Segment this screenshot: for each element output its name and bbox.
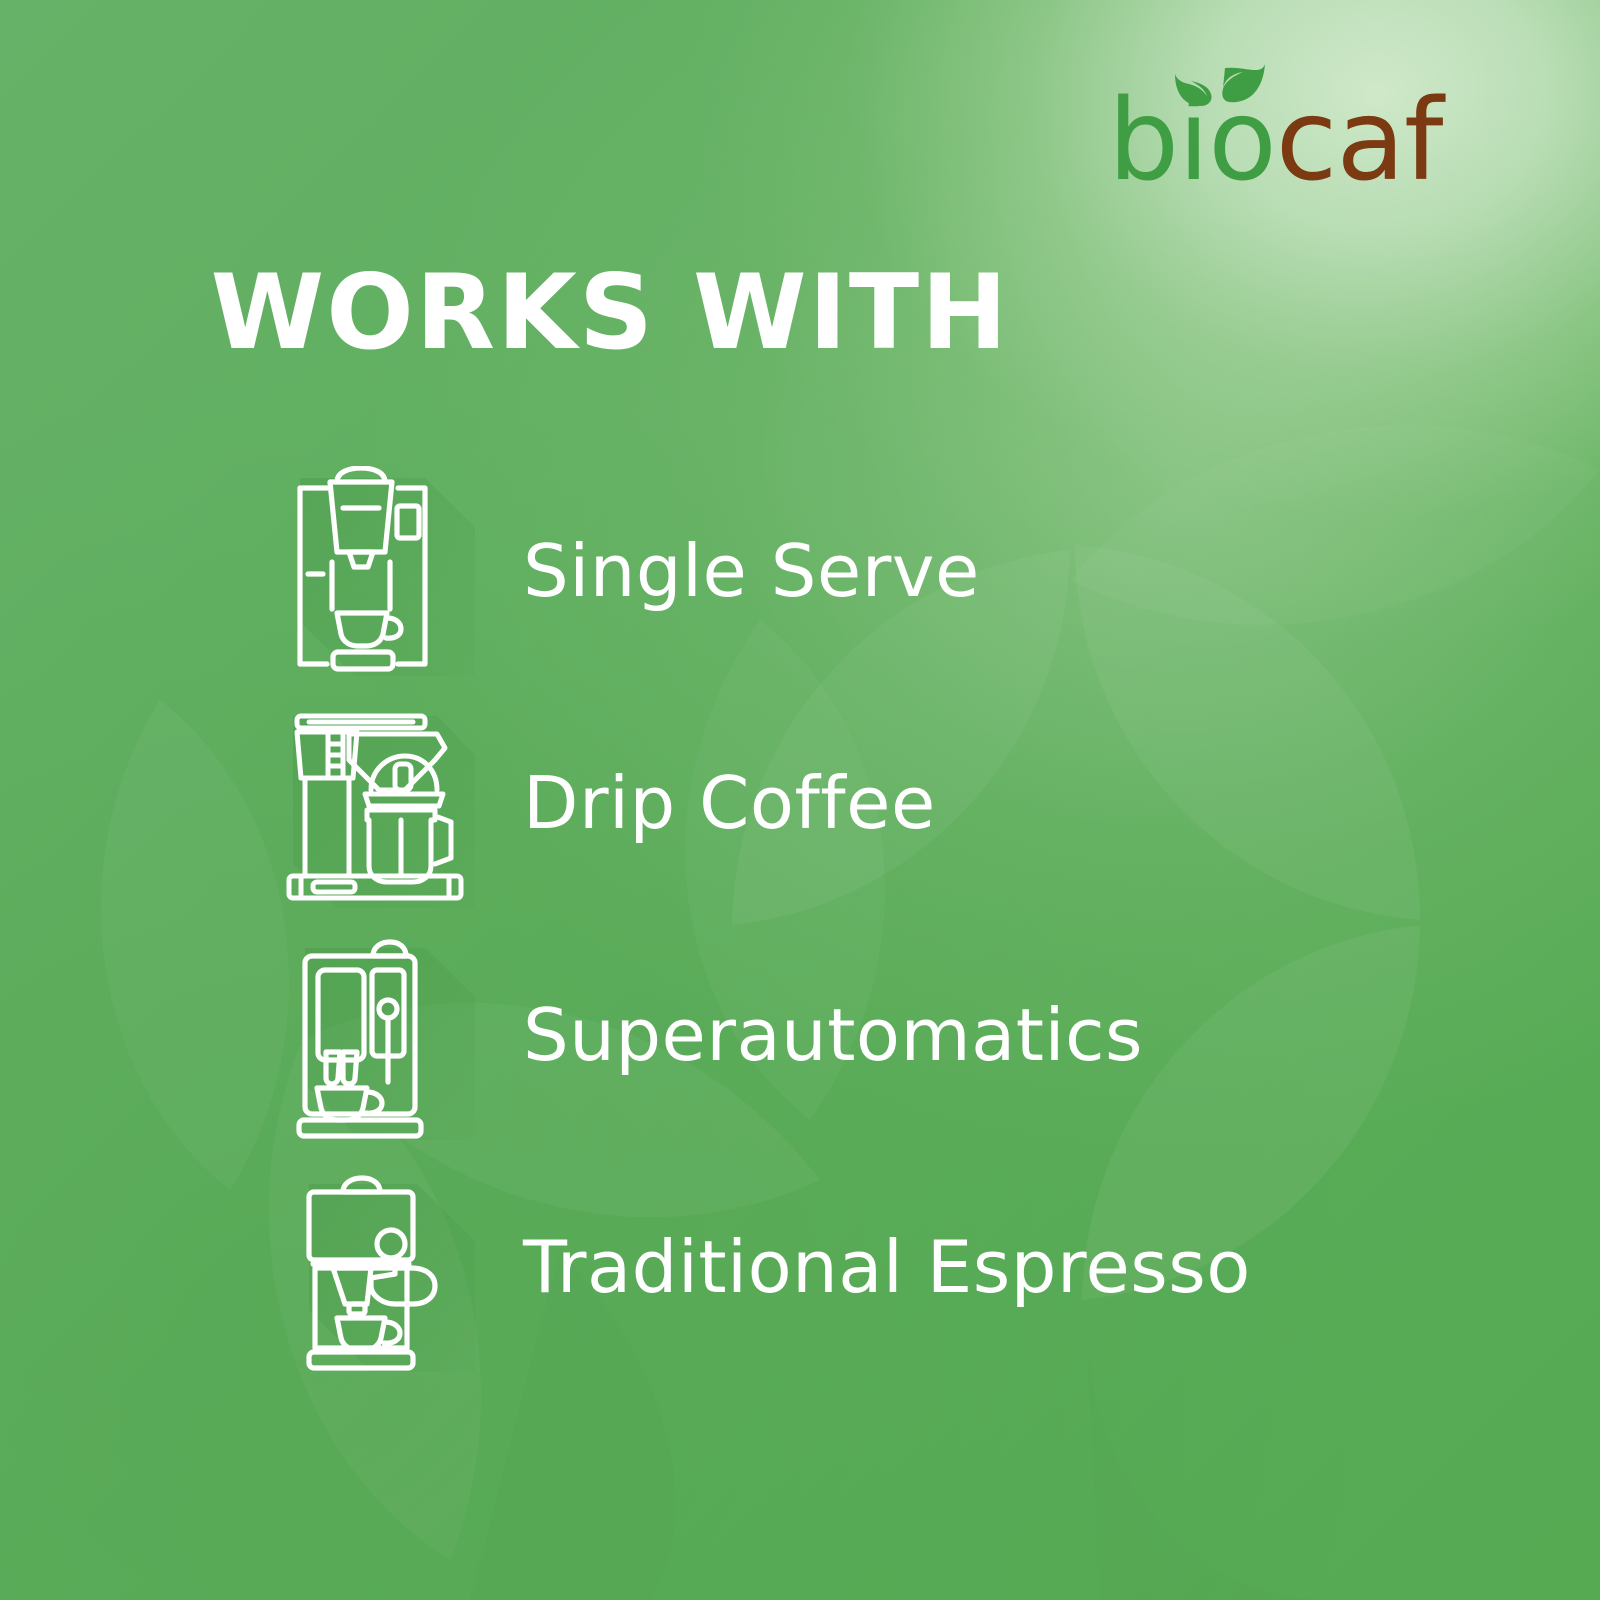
list-item: Traditional Espresso (0, 1151, 1600, 1383)
list-item-label: Drip Coffee (523, 767, 936, 839)
list-item: Drip Coffee (0, 687, 1600, 919)
icon-container (245, 687, 505, 919)
brand-logo: biocaf (1108, 62, 1468, 197)
leaf-sprout-icon (1175, 58, 1267, 130)
icon-container (245, 455, 505, 687)
page-title: WORKS WITH (0, 262, 1220, 365)
traditional-espresso-machine-icon (275, 1162, 475, 1372)
single-serve-coffee-maker-icon (275, 466, 475, 676)
compatibility-list: Single Serve (0, 455, 1600, 1383)
list-item-label: Traditional Espresso (523, 1231, 1251, 1303)
list-item-label: Single Serve (523, 535, 980, 607)
list-item: Single Serve (0, 455, 1600, 687)
icon-container (245, 1151, 505, 1383)
drip-coffee-maker-icon (275, 698, 475, 908)
superautomatic-espresso-machine-icon (275, 930, 475, 1140)
icon-container (245, 919, 505, 1151)
logo-caf-text: caf (1276, 76, 1443, 206)
promo-graphic: biocaf WORKS WITH (0, 0, 1600, 1600)
list-item: Superautomatics (0, 919, 1600, 1151)
list-item-label: Superautomatics (523, 999, 1143, 1071)
logo-wordmark: biocaf (1108, 85, 1442, 197)
